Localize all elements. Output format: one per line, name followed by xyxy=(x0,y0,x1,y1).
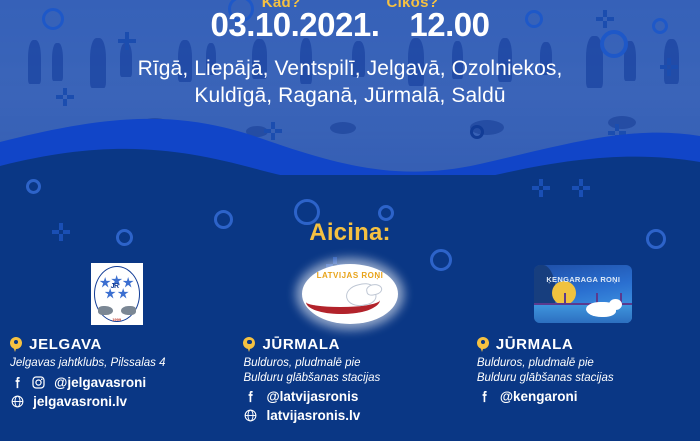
city-name: JŪRMALA xyxy=(262,336,340,353)
globe-icon[interactable] xyxy=(10,394,25,409)
address: Bulduros, pludmalē pie Bulduru glābšanas… xyxy=(237,356,462,385)
globe-icon[interactable] xyxy=(243,408,258,423)
address: Bulduros, pludmalē pie Bulduru glābšanas… xyxy=(471,356,696,385)
city-line: JŪRMALA xyxy=(237,336,462,353)
address-line-2: Bulduru glābšanas stacijas xyxy=(243,371,462,386)
map-pin-icon xyxy=(477,337,489,353)
cities-list: Rīgā, Liepājā, Ventspilī, Jelgavā, Ozoln… xyxy=(0,56,700,110)
facebook-icon[interactable] xyxy=(10,375,25,390)
oval-logo-text: LATVIJAS ROŅI xyxy=(302,271,398,280)
crest-monogram: JR xyxy=(111,283,119,290)
city-name: JELGAVA xyxy=(29,336,102,353)
organization-card: ĶENGARAGA ROŅI JŪRMALA Bulduros, pludmal… xyxy=(471,258,696,404)
latvijas-ronis-oval-logo: LATVIJAS ROŅI xyxy=(302,264,398,324)
website-url[interactable]: jelgavasroni.lv xyxy=(33,394,127,409)
jelgavas-roni-crest-logo: JR 1999 xyxy=(91,263,143,325)
kengaraga-roni-rect-logo: ĶENGARAGA ROŅI xyxy=(534,265,632,323)
crest-year: 1999 xyxy=(91,317,143,322)
facebook-icon[interactable] xyxy=(477,389,492,404)
cities-line-1: Rīgā, Liepājā, Ventspilī, Jelgavā, Ozoln… xyxy=(0,56,700,83)
instagram-icon[interactable] xyxy=(31,375,46,390)
address-line-1: Jelgavas jahtklubs, Pilssalas 4 xyxy=(10,356,229,371)
event-date: 03.10.2021. xyxy=(211,6,380,44)
website-url[interactable]: latvijasronis.lv xyxy=(266,408,360,423)
cities-line-2: Kuldīgā, Raganā, Jūrmalā, Saldū xyxy=(0,83,700,110)
city-line: JŪRMALA xyxy=(471,336,696,353)
social-row-facebook[interactable]: @latvijasronis xyxy=(237,389,462,404)
city-name: JŪRMALA xyxy=(496,336,574,353)
event-time: 12.00 xyxy=(409,6,489,44)
address-line-1: Bulduros, pludmalē pie xyxy=(477,356,696,371)
facebook-handle[interactable]: @latvijasronis xyxy=(266,389,358,404)
address-line-1: Bulduros, pludmalē pie xyxy=(243,356,462,371)
logo-slot: JR 1999 xyxy=(91,258,143,330)
map-pin-icon xyxy=(10,337,22,353)
rect-logo-text: ĶENGARAGA ROŅI xyxy=(534,275,632,284)
event-poster: Kad? Cikos? 03.10.2021. 12.00 Rīgā, Liep… xyxy=(0,0,700,441)
logo-slot: LATVIJAS ROŅI xyxy=(302,258,398,330)
organization-columns: JR 1999 JELGAVA Jelgavas jahtklubs, Pils… xyxy=(0,258,700,438)
organization-card: JR 1999 JELGAVA Jelgavas jahtklubs, Pils… xyxy=(4,258,229,409)
organization-card: LATVIJAS ROŅI JŪRMALA Bulduros, pludmalē… xyxy=(237,258,462,423)
date-time-row: 03.10.2021. 12.00 xyxy=(0,6,700,44)
social-row-facebook-instagram[interactable]: @jelgavasroni xyxy=(4,375,229,390)
logo-slot: ĶENGARAGA ROŅI xyxy=(534,258,632,330)
facebook-handle[interactable]: @kengaroni xyxy=(500,389,578,404)
city-line: JELGAVA xyxy=(4,336,229,353)
invite-heading: Aicina: xyxy=(0,219,700,247)
social-row-website[interactable]: latvijasronis.lv xyxy=(237,408,462,423)
address-line-2: Bulduru glābšanas stacijas xyxy=(477,371,696,386)
social-row-facebook[interactable]: @kengaroni xyxy=(471,389,696,404)
address: Jelgavas jahtklubs, Pilssalas 4 xyxy=(4,356,229,371)
map-pin-icon xyxy=(243,337,255,353)
facebook-icon[interactable] xyxy=(243,389,258,404)
decor-ring xyxy=(26,179,41,194)
social-row-website[interactable]: jelgavasroni.lv xyxy=(4,394,229,409)
facebook-handle[interactable]: @jelgavasroni xyxy=(54,375,146,390)
